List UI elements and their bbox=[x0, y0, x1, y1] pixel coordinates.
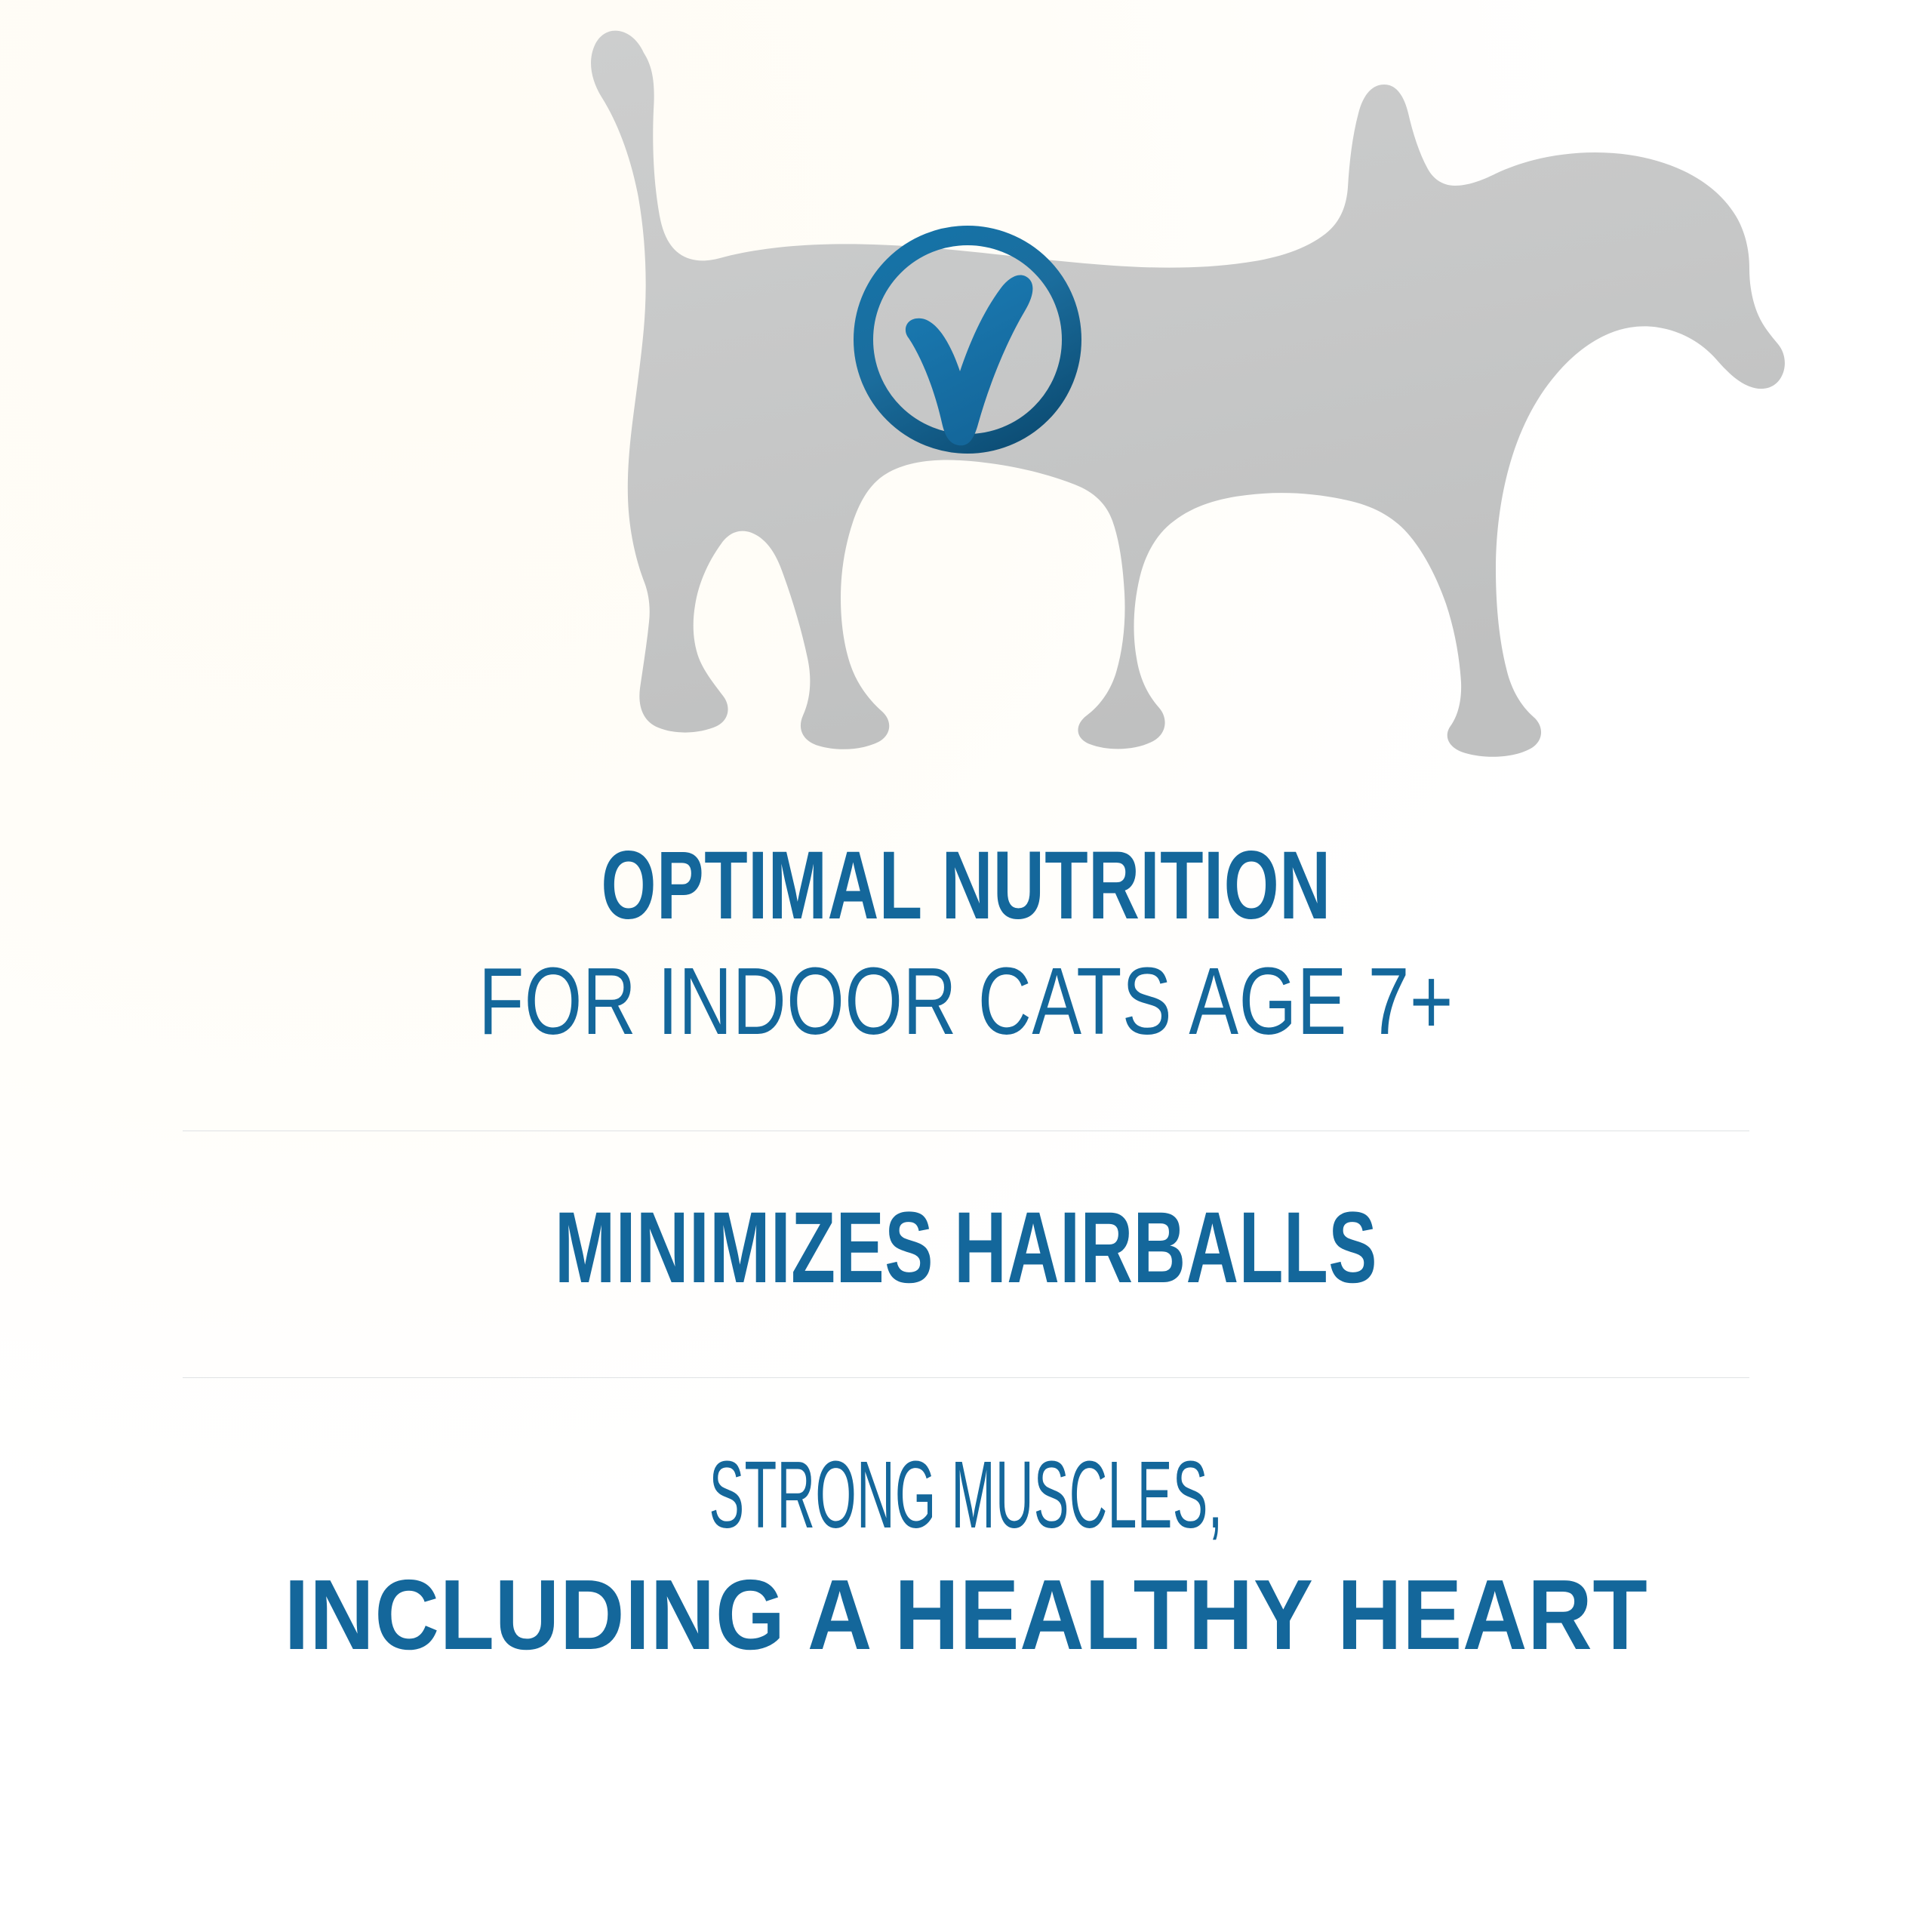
benefit-muscles-text-line2: INCLUDING A HEALTHY HEART bbox=[98, 1543, 1834, 1665]
headline-block: OPTIMAL NUTRITION FOR INDOOR CATS AGE 7+ bbox=[0, 800, 1932, 1049]
benefit-muscles-text-line1: STRONG MUSCLES, bbox=[430, 1378, 1502, 1543]
benefit-hairballs-text: MINIMIZES HAIRBALLS bbox=[272, 1131, 1660, 1299]
walking-cat-silhouette bbox=[591, 31, 1785, 757]
headline-primary: OPTIMAL NUTRITION bbox=[257, 800, 1675, 934]
benefit-copy-stack: OPTIMAL NUTRITION FOR INDOOR CATS AGE 7+… bbox=[0, 800, 1932, 1665]
product-benefits-panel: OPTIMAL NUTRITION FOR INDOOR CATS AGE 7+… bbox=[0, 0, 1932, 1932]
headline-secondary: FOR INDOOR CATS AGE 7+ bbox=[211, 934, 1721, 1049]
hero-illustration bbox=[0, 0, 1932, 800]
benefit-hairballs-block: MINIMIZES HAIRBALLS bbox=[0, 1131, 1932, 1299]
benefit-muscles-block: STRONG MUSCLES, INCLUDING A HEALTHY HEAR… bbox=[0, 1378, 1932, 1665]
